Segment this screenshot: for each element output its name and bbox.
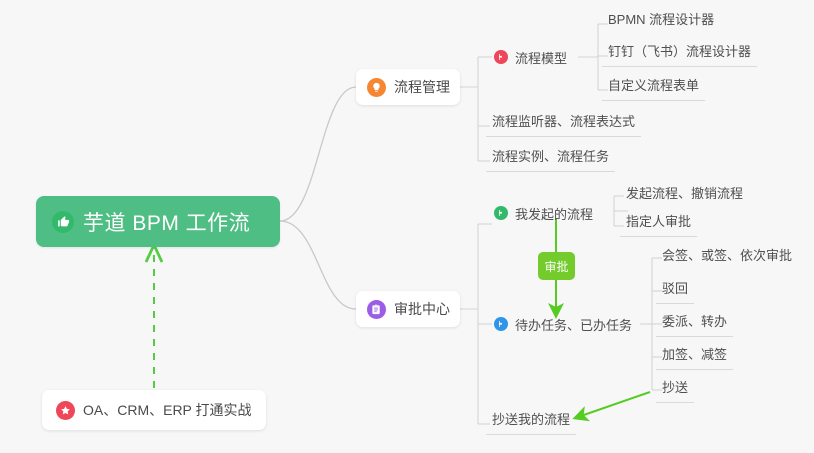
leaf-node-assignee-approval[interactable]: 指定人审批 [620,213,697,237]
root-node-label: 芋道 BPM 工作流 [83,207,250,237]
leaf-node-delegate-transfer[interactable]: 委派、转办 [656,313,733,337]
annotation-label-approve: 审批 [538,252,575,280]
leaf-node-listener-expression[interactable]: 流程监听器、流程表达式 [486,113,641,137]
branch-node-approval-center[interactable]: 审批中心 [356,291,460,327]
root-node[interactable]: 芋道 BPM 工作流 [36,196,280,247]
leaf-node-start-cancel-process[interactable]: 发起流程、撤销流程 [620,185,749,208]
clipboard-icon [367,300,386,319]
leaf-node-cc[interactable]: 抄送 [656,379,694,403]
leaf-node-instance-task[interactable]: 流程实例、流程任务 [486,148,615,172]
flag-icon [494,206,508,220]
topic-node-label: 流程模型 [515,48,567,67]
leaf-node-countersign-orsign-sequential[interactable]: 会签、或签、依次审批 [656,247,798,270]
topic-node-label: 待办任务、已办任务 [515,315,632,334]
flag-icon [494,50,508,64]
topic-node-process-model[interactable]: 流程模型 [494,46,567,68]
flag-icon [494,317,508,331]
branch-node-label: 审批中心 [394,299,450,319]
callout-node-integration-practice[interactable]: OA、CRM、ERP 打通实战 [42,390,266,430]
branch-node-process-management[interactable]: 流程管理 [356,69,460,105]
topic-node-todo-done-tasks[interactable]: 待办任务、已办任务 [494,313,632,335]
leaf-node-cc-to-me[interactable]: 抄送我的流程 [486,411,576,435]
leaf-node-dingtalk-feishu-designer[interactable]: 钉钉（飞书）流程设计器 [602,43,757,67]
mindmap-canvas: 芋道 BPM 工作流 流程管理 流程模型 BPMN 流程设计器 钉钉（飞书）流程… [0,0,814,453]
lightbulb-icon [367,78,386,97]
thumbs-up-icon [52,211,74,233]
branch-node-label: 流程管理 [394,77,450,97]
callout-node-label: OA、CRM、ERP 打通实战 [83,400,252,420]
leaf-node-add-remove-sign[interactable]: 加签、减签 [656,346,733,370]
leaf-node-bpmn-designer[interactable]: BPMN 流程设计器 [602,11,720,34]
topic-node-label: 我发起的流程 [515,204,593,223]
leaf-node-reject[interactable]: 驳回 [656,280,694,304]
topic-node-my-initiated-processes[interactable]: 我发起的流程 [494,202,593,224]
star-icon [56,401,75,420]
leaf-node-custom-process-form[interactable]: 自定义流程表单 [602,77,705,101]
